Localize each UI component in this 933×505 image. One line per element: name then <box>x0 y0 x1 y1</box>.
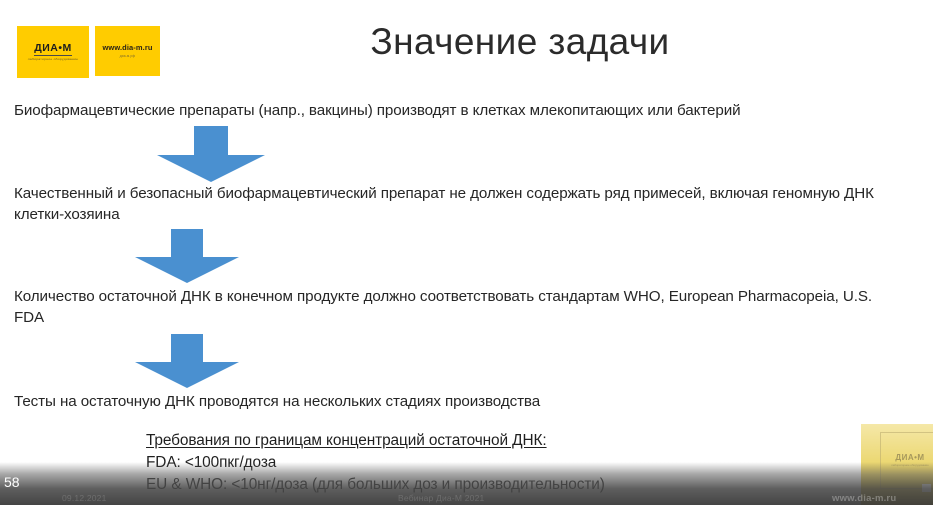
requirements-heading: Требования по границам концентраций оста… <box>146 430 605 452</box>
footer-center-text: Вебинар Диа-М 2021 <box>398 493 484 503</box>
footer-url: www.dia-m.ru <box>832 493 896 504</box>
body-paragraph-2: Качественный и безопасный биофармацевтич… <box>14 184 894 226</box>
corner-logo-tagline: лабораторное оборудование <box>891 463 929 467</box>
corner-logo-name: ДИА•М <box>895 454 924 462</box>
logo-primary-name: ДИА•М <box>34 43 72 56</box>
requirements-block: Требования по границам концентраций оста… <box>146 430 605 496</box>
requirements-line-fda: FDA: <100пкг/доза <box>146 452 605 474</box>
corner-logo-frame: ДИА•М лабораторное оборудование <box>880 432 933 489</box>
logo-primary-tagline: лабораторное оборудование <box>28 57 79 61</box>
body-paragraph-4: Тесты на остаточную ДНК проводятся на не… <box>14 392 894 413</box>
body-paragraph-3: Количество остаточной ДНК в конечном про… <box>14 287 894 329</box>
logo-diam-website: www.dia-m.ru диа-м.рф <box>95 26 160 76</box>
logo-secondary-url: www.dia-m.ru <box>102 44 152 52</box>
corner-white-chip <box>922 484 931 492</box>
arrow-down-icon <box>135 334 239 388</box>
slide-canvas: ДИА•М лабораторное оборудование www.dia-… <box>0 0 933 505</box>
logo-diam-primary: ДИА•М лабораторное оборудование <box>17 26 89 78</box>
footer-date: 09.12.2021 <box>62 493 107 503</box>
arrow-down-icon <box>157 126 265 182</box>
body-paragraph-1: Биофармацевтические препараты (напр., ва… <box>14 101 894 122</box>
arrow-down-icon <box>135 229 239 283</box>
logo-secondary-tagline: диа-м.рф <box>120 54 136 58</box>
page-title: Значение задачи <box>330 22 710 63</box>
requirements-line-eu-who: EU & WHO: <10нг/доза (для больших доз и … <box>146 474 605 496</box>
slide-number: 58 <box>4 474 20 490</box>
